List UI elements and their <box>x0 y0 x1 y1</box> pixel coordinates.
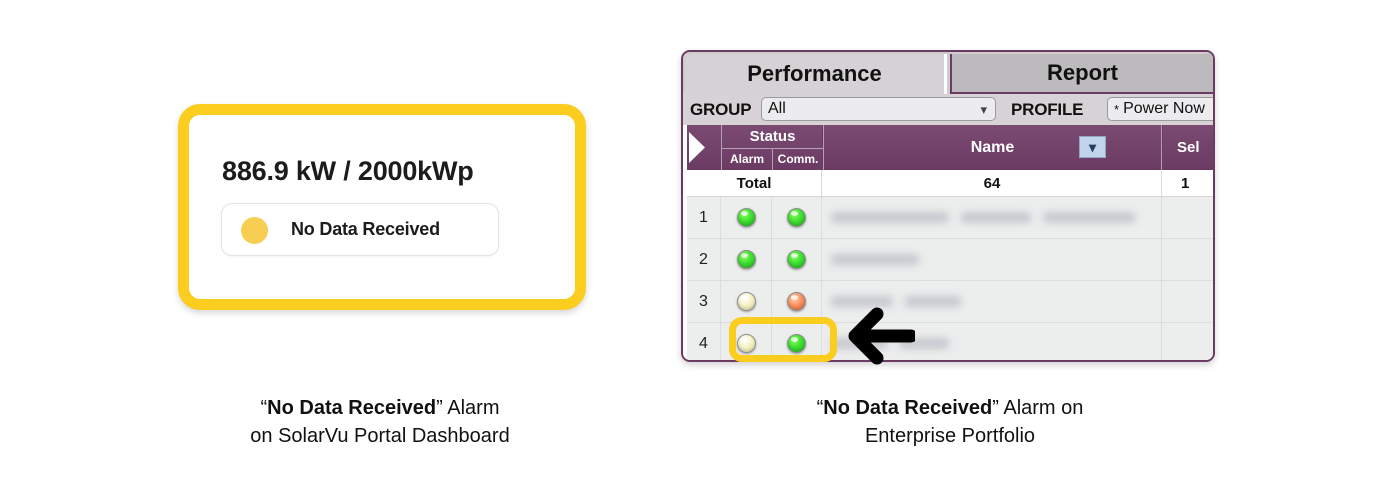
alarm-status-cell[interactable] <box>721 197 772 238</box>
chevron-down-icon[interactable]: ▾ <box>1079 136 1106 158</box>
row-number: 4 <box>687 323 721 362</box>
select-cell[interactable] <box>1163 239 1215 280</box>
redacted-text-block <box>1043 212 1135 223</box>
caption-right-line2: Enterprise Portfolio <box>720 422 1180 450</box>
name-header[interactable]: Name ▾ <box>823 125 1162 170</box>
alarm-status-led-pale-icon <box>737 292 756 311</box>
profile-label: PROFILE <box>1011 100 1083 120</box>
dashboard-card-body: 886.9 kW / 2000kWp No Data Received <box>189 115 575 299</box>
comm-status-led-green-icon <box>787 250 806 269</box>
table-header-row: Status Alarm Comm. Name ▾ Sel <box>687 125 1215 170</box>
alarm-status-cell[interactable] <box>721 281 772 322</box>
screenshot-stage: 886.9 kW / 2000kWp No Data Received Perf… <box>0 0 1400 494</box>
alarm-status-pill[interactable]: No Data Received <box>221 203 499 256</box>
caption-right-quoted: No Data Received <box>823 397 992 419</box>
portfolio-table: Status Alarm Comm. Name ▾ Sel Total 64 1 <box>683 125 1213 360</box>
profile-select-value: Power Now <box>1123 100 1205 118</box>
select-cell[interactable] <box>1163 281 1215 322</box>
solarvu-dashboard-card: 886.9 kW / 2000kWp No Data Received <box>178 104 586 310</box>
comm-header[interactable]: Comm. <box>773 148 823 170</box>
alarm-header[interactable]: Alarm <box>722 148 773 170</box>
caption-right-suffix: Alarm on <box>999 397 1083 419</box>
left-arrow-icon <box>843 305 915 367</box>
table-total-row: Total 64 1 <box>687 170 1215 197</box>
redacted-text-block <box>961 212 1031 223</box>
alarm-status-cell[interactable] <box>721 323 772 362</box>
redacted-text-block <box>831 212 949 223</box>
caption-left-line2: on SolarVu Portal Dashboard <box>140 422 620 450</box>
comm-status-cell[interactable] <box>772 197 822 238</box>
alarm-status-cell[interactable] <box>721 239 772 280</box>
table-row[interactable]: 2 <box>687 239 1215 281</box>
alarm-status-led-green-icon <box>737 208 756 227</box>
comm-status-led-orange-icon <box>787 292 806 311</box>
tab-report[interactable]: Report <box>950 54 1215 94</box>
total-select: 1 <box>1163 170 1215 196</box>
tab-performance[interactable]: Performance <box>685 54 947 94</box>
group-select[interactable]: All ▾ <box>761 97 996 121</box>
alarm-status-led-pale-icon <box>737 334 756 353</box>
alarm-status-led-green-icon <box>737 250 756 269</box>
site-name-redacted <box>831 254 919 265</box>
table-row[interactable]: 1 <box>687 197 1215 239</box>
row-number: 1 <box>687 197 721 238</box>
row-indicator-header[interactable] <box>687 125 721 170</box>
site-name-redacted <box>831 212 1135 223</box>
group-label: GROUP <box>690 100 751 120</box>
name-header-label: Name <box>971 139 1015 157</box>
filter-bar: GROUP All ▾ PROFILE * Power Now <box>683 94 1213 125</box>
caption-left-quoted: No Data Received <box>267 397 436 419</box>
group-select-value: All <box>768 100 786 118</box>
caption-right-line1: “No Data Received” Alarm on <box>720 394 1180 422</box>
chevron-down-icon: ▾ <box>980 102 987 118</box>
status-header: Status <box>722 125 823 149</box>
caption-left-suffix: Alarm <box>443 397 500 419</box>
row-number: 3 <box>687 281 721 322</box>
caption-left-line1: “No Data Received” Alarm <box>140 394 620 422</box>
alarm-status-label: No Data Received <box>291 219 440 240</box>
asterisk-icon: * <box>1114 102 1119 117</box>
alarm-status-dot-icon <box>241 217 268 244</box>
select-cell[interactable] <box>1163 323 1215 362</box>
comm-status-led-green-icon <box>787 208 806 227</box>
comm-status-cell[interactable] <box>772 239 822 280</box>
caption-left: “No Data Received” Alarm on SolarVu Port… <box>140 394 620 450</box>
power-readout: 886.9 kW / 2000kWp <box>222 156 474 187</box>
table-row[interactable]: 3 <box>687 281 1215 323</box>
comm-status-led-green-icon <box>787 334 806 353</box>
tab-strip: Performance Report <box>683 52 1213 94</box>
site-name-cell[interactable] <box>823 197 1162 238</box>
table-body: 1234 <box>687 197 1215 362</box>
comm-status-cell[interactable] <box>772 323 822 362</box>
row-number: 2 <box>687 239 721 280</box>
total-count: 64 <box>823 170 1162 196</box>
comm-status-cell[interactable] <box>772 281 822 322</box>
enterprise-portfolio-panel: Performance Report GROUP All ▾ PROFILE *… <box>681 50 1215 362</box>
triangle-right-icon <box>689 132 705 163</box>
select-header[interactable]: Sel <box>1163 125 1215 170</box>
redacted-text-block <box>831 254 919 265</box>
profile-select[interactable]: * Power Now <box>1107 97 1215 121</box>
site-name-cell[interactable] <box>823 239 1162 280</box>
select-cell[interactable] <box>1163 197 1215 238</box>
table-row[interactable]: 4 <box>687 323 1215 362</box>
total-label: Total <box>687 170 822 196</box>
status-column-group: Status Alarm Comm. <box>721 125 822 170</box>
caption-right: “No Data Received” Alarm on Enterprise P… <box>720 394 1180 450</box>
